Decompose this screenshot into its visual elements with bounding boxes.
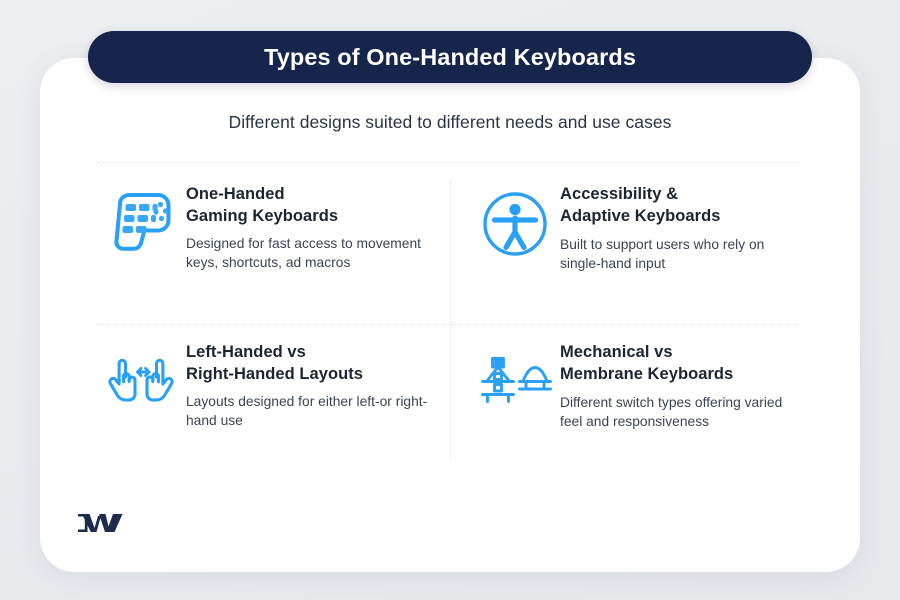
feature-item-switch-types: Mechanical vs Membrane Keyboards Differe… — [472, 342, 802, 432]
feature-title: Left-Handed vs Right-Handed Layouts — [186, 342, 438, 386]
feature-title-line2: Right-Handed Layouts — [186, 365, 363, 383]
feature-title: Accessibility & Adaptive Keyboards — [560, 184, 802, 228]
feature-title-line2: Membrane Keyboards — [560, 365, 733, 383]
feature-description: Built to support users who rely on singl… — [560, 235, 802, 274]
feature-title-line2: Gaming Keyboards — [186, 207, 338, 225]
feature-description: Layouts designed for either left-or righ… — [186, 392, 438, 431]
feature-text: Left-Handed vs Right-Handed Layouts Layo… — [184, 342, 438, 431]
feature-title-line1: Left-Handed vs — [186, 343, 306, 361]
feature-item-accessibility-keyboards: Accessibility & Adaptive Keyboards Built… — [472, 184, 802, 274]
feature-title: One-Handed Gaming Keyboards — [186, 184, 438, 228]
gaming-keypad-icon — [98, 184, 184, 252]
feature-text: One-Handed Gaming Keyboards Designed for… — [184, 184, 438, 273]
feature-title-line1: One-Handed — [186, 185, 285, 203]
feature-description: Different switch types offering varied f… — [560, 393, 802, 432]
feature-title: Mechanical vs Membrane Keyboards — [560, 342, 802, 386]
accessibility-person-icon — [472, 184, 558, 258]
keycap-switches-icon — [472, 342, 558, 408]
two-hands-arrow-icon — [98, 342, 184, 408]
page-title: Types of One-Handed Keyboards — [264, 44, 636, 71]
feature-title-line1: Accessibility & — [560, 185, 678, 203]
w-monogram-logo — [74, 507, 130, 539]
feature-text: Mechanical vs Membrane Keyboards Differe… — [558, 342, 802, 432]
feature-item-gaming-keyboards: One-Handed Gaming Keyboards Designed for… — [98, 184, 438, 273]
divider-horizontal-top — [98, 162, 800, 164]
feature-description: Designed for fast access to movement key… — [186, 234, 438, 273]
feature-grid: One-Handed Gaming Keyboards Designed for… — [98, 178, 802, 462]
feature-item-handedness-layouts: Left-Handed vs Right-Handed Layouts Layo… — [98, 342, 438, 431]
feature-title-line1: Mechanical vs — [560, 343, 673, 361]
infographic-root: Types of One-Handed Keyboards Different … — [0, 0, 900, 600]
feature-title-line2: Adaptive Keyboards — [560, 207, 720, 225]
page-subtitle: Different designs suited to different ne… — [0, 112, 900, 133]
feature-text: Accessibility & Adaptive Keyboards Built… — [558, 184, 802, 274]
title-banner: Types of One-Handed Keyboards — [88, 31, 812, 83]
